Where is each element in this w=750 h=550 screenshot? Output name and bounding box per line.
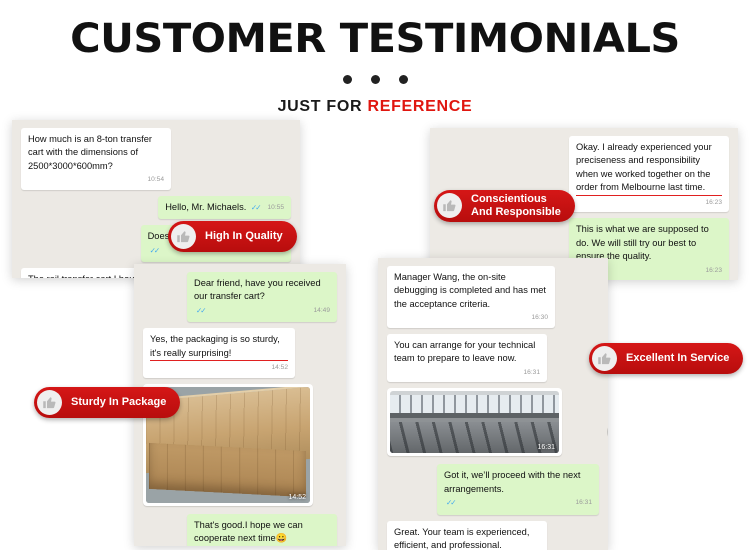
windows-band [390,395,559,414]
message-time: 16:30 [531,313,548,323]
chat-bubble-outgoing[interactable]: Hello, Mr. Michaels. 10:55✓✓ [158,196,291,219]
message-time: 16:31 [575,498,592,508]
message-time: 16:31 [523,368,540,378]
badge-label: Conscientious And Responsible [471,193,561,219]
badge-label-line2: And Responsible [471,206,561,218]
badge-conscientious-and-responsible[interactable]: Conscientious And Responsible [434,190,575,222]
chat-row: That's good.I hope we can cooperate next… [143,514,337,546]
badge-label: High In Quality [205,230,283,243]
message-time: 14:49 [313,306,330,316]
chat-panel-service: Manager Wang, the on-site debugging is c… [378,258,608,550]
badge-high-in-quality[interactable]: High In Quality [168,221,297,252]
page-title: CUSTOMER TESTIMONIALS [0,16,750,62]
message-text: Great. Your team is experienced, efficie… [394,526,540,550]
dot-icon [371,75,380,84]
chat-bubble-incoming[interactable]: Yes, the packaging is so sturdy, it's re… [143,328,295,377]
message-text: Dear friend, have you received our trans… [194,277,330,304]
dot-icon [343,75,352,84]
message-text: Got it, we’ll proceed with the next arra… [444,469,592,496]
workshop-image [390,391,559,453]
chat-bubble-outgoing[interactable]: That's good.I hope we can cooperate next… [187,514,337,546]
dot-icon [399,75,408,84]
subtitle-accent: REFERENCE [367,98,472,115]
chat-bubble-incoming[interactable]: You can arrange for your technical team … [387,334,547,382]
read-receipt-icon: ✓✓ [196,306,205,315]
chat-bubble-incoming[interactable]: Okay. I already experienced your precise… [569,136,729,212]
badge-sturdy-in-package[interactable]: Sturdy In Package [34,387,180,418]
badge-label: Sturdy In Package [71,396,166,409]
chat-row: Hello, Mr. Michaels. 10:55✓✓ [21,196,291,219]
page-header: CUSTOMER TESTIMONIALS JUST FOR REFERENCE [0,0,750,116]
message-time: 16:23 [705,266,722,276]
chat-bubble-outgoing[interactable]: Dear friend, have you received our trans… [187,272,337,322]
dot-separator [0,75,750,84]
message-text: That's good.I hope we can cooperate next… [194,519,330,546]
message-time: 14:52 [271,363,288,373]
thumbs-up-icon [171,224,196,249]
message-time: 10:54 [147,175,164,185]
read-receipt-icon: ✓✓ [251,203,260,212]
page-subtitle: JUST FOR REFERENCE [0,98,750,116]
message-time: 14:52 [288,494,306,501]
chat-row: Great. Your team is experienced, efficie… [387,521,599,550]
message-text: Manager Wang, the on-site debugging is c… [394,271,548,311]
chat-row: 16:31 [387,388,599,456]
chat-bubble-incoming[interactable]: Manager Wang, the on-site debugging is c… [387,266,555,328]
chat-row: How much is an 8-ton transfer cart with … [21,128,291,190]
badge-label-line1: Conscientious [471,193,547,205]
message-text: Hello, Mr. Michaels. [165,202,246,212]
chat-panel-quality: How much is an 8-ton transfer cart with … [12,120,300,278]
message-time: 10:55 [267,203,284,213]
thumbs-up-icon [37,390,62,415]
chat-row: Manager Wang, the on-site debugging is c… [387,266,599,328]
message-time: 16:23 [705,198,722,208]
chat-row: Got it, we’ll proceed with the next arra… [387,464,599,514]
chat-row: You can arrange for your technical team … [387,334,599,382]
read-receipt-icon: ✓✓ [446,498,455,507]
thumbs-up-icon [437,193,462,218]
badge-label: Excellent In Service [626,352,729,365]
message-text: You can arrange for your technical team … [394,339,540,366]
message-text: Okay. I already experienced your precise… [576,141,722,196]
message-text: How much is an 8-ton transfer cart with … [28,133,164,173]
chat-bubble-outgoing[interactable]: Got it, we’ll proceed with the next arra… [437,464,599,514]
read-receipt-icon: ✓✓ [150,246,159,255]
chat-row: Dear friend, have you received our trans… [143,272,337,322]
beam-band [390,413,559,418]
workshop-transfer-carts-photo[interactable]: 16:31 [390,391,559,453]
forward-button[interactable] [607,422,608,442]
message-time: 16:31 [537,444,555,451]
thumbs-up-icon [592,346,617,371]
chat-bubble-incoming[interactable]: How much is an 8-ton transfer cart with … [21,128,171,190]
chat-row: Yes, the packaging is so sturdy, it's re… [143,328,337,377]
chat-bubble-incoming[interactable]: Great. Your team is experienced, efficie… [387,521,547,550]
message-text: Yes, the packaging is so sturdy, it's re… [150,333,288,361]
subtitle-prefix: JUST FOR [278,98,368,115]
chat-bubble-image[interactable]: 16:31 [387,388,562,456]
floor-band [390,422,559,453]
badge-excellent-in-service[interactable]: Excellent In Service [589,343,743,374]
